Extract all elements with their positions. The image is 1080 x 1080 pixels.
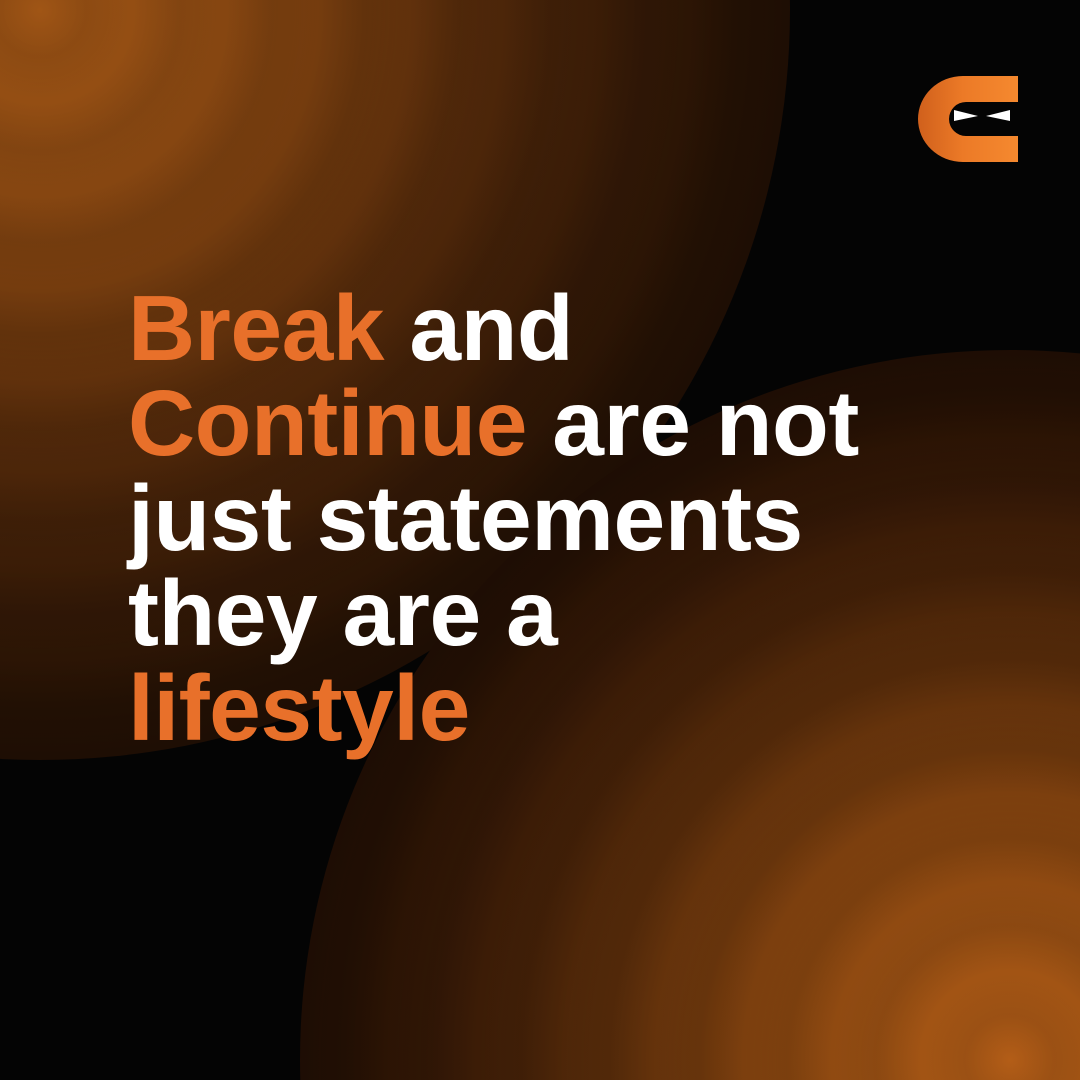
c-ninja-logo-icon — [918, 76, 1018, 162]
logo-right-eye-icon — [986, 110, 1010, 121]
quote-line-1: Break and — [128, 281, 908, 376]
quote-line-5: lifestyle — [128, 661, 908, 756]
quote-word-continue: Continue — [128, 371, 527, 475]
quote-word-break: Break — [128, 276, 384, 380]
quote-line-2: Continue are not — [128, 376, 908, 471]
quote-text-block: Break and Continue are not just statemen… — [128, 281, 908, 756]
quote-line-3: just statements — [128, 471, 908, 566]
logo-left-eye-icon — [954, 110, 978, 121]
quote-words-are-not: are not — [527, 371, 859, 475]
quote-line-4: they are a — [128, 566, 908, 661]
brand-logo[interactable] — [918, 76, 1018, 162]
quote-word-and: and — [384, 276, 573, 380]
quote-card: Break and Continue are not just statemen… — [0, 0, 1080, 1080]
